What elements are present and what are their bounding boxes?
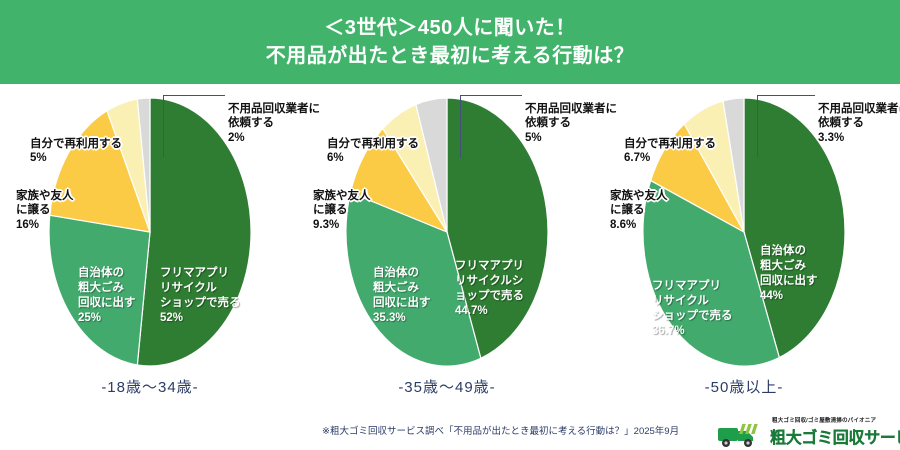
callout-leader-2: [757, 95, 815, 157]
slice-label-flea-2: フリマアプリ リサイクル ショップで売る36.7%: [652, 264, 752, 354]
chart-caption-0: -18歳〜34歳-: [0, 376, 300, 397]
logo-tagline: 粗大ゴミ回収/ゴミ屋敷清掃のパイオニア: [772, 416, 876, 424]
slice-label-reuse-2: 自分で再利用する6.7%: [624, 122, 744, 180]
slice-label-flea-1: フリマアプリ リサイクルシ ョップで売る44.7%: [455, 244, 563, 334]
slice-label-municipal-2: 自治体の 粗大ごみ 回収に出す44%: [760, 229, 850, 319]
slice-label-give-1: 家族や友人 に譲る9.3%: [313, 174, 423, 247]
pie-chart-50-plus: 不用品回収業者に 依頼する3.3% 自分で再利用する6.7% 家族や友人 に譲る…: [594, 84, 894, 414]
chart-caption-2: -50歳以上-: [594, 376, 894, 397]
logo-name: 粗大ゴミ回収サービス: [770, 424, 900, 448]
truck-icon: [718, 422, 768, 448]
header-title-line1: ＜3世代＞450人に聞いた！: [324, 14, 576, 42]
pie-chart-35-49: 不用品回収業者に 依頼する5% 自分で再利用する6% 家族や友人 に譲る9.3%…: [297, 84, 597, 414]
slice-label-callout-2: 不用品回収業者に 依頼する3.3%: [818, 87, 900, 160]
pie-chart-18-34: 不用品回収業者に 依頼する2% 自分で再利用する5% 家族や友人 に譲る16% …: [0, 84, 300, 414]
slice-label-reuse-1: 自分で再利用する6%: [327, 122, 447, 180]
charts-area: 不用品回収業者に 依頼する2% 自分で再利用する5% 家族や友人 に譲る16% …: [0, 84, 900, 414]
slice-label-give-2: 家族や友人 に譲る8.6%: [610, 174, 720, 247]
slice-label-reuse-0: 自分で再利用する5%: [30, 122, 150, 180]
slice-label-flea-0: フリマアプリ リサイクル ショップで売る52%: [160, 251, 268, 341]
callout-leader-0: [163, 95, 225, 157]
slice-label-give-0: 家族や友人 に譲る16%: [16, 174, 126, 247]
slice-label-municipal-1: 自治体の 粗大ごみ 回収に出す35.3%: [373, 251, 463, 341]
header-title-line2: 不用品が出たとき最初に考える行動は？: [266, 42, 634, 70]
infographic-root: ＜3世代＞450人に聞いた！ 不用品が出たとき最初に考える行動は？ 不用品回収業…: [0, 0, 900, 450]
footer: ※粗大ゴミ回収サービス調べ「不用品が出たとき最初に考える行動は？」2025年9月…: [0, 414, 900, 450]
chart-caption-1: -35歳〜49歳-: [297, 376, 597, 397]
callout-leader-1: [460, 95, 522, 157]
brand-logo[interactable]: 粗大ゴミ回収/ゴミ屋敷清掃のパイオニア 粗大ゴミ回収サービス: [718, 414, 896, 450]
header-banner: ＜3世代＞450人に聞いた！ 不用品が出たとき最初に考える行動は？: [0, 0, 900, 84]
slice-label-municipal-0: 自治体の 粗大ごみ 回収に出す25%: [78, 251, 168, 341]
source-note: ※粗大ゴミ回収サービス調べ「不用品が出たとき最初に考える行動は？」2025年9月: [322, 423, 679, 437]
